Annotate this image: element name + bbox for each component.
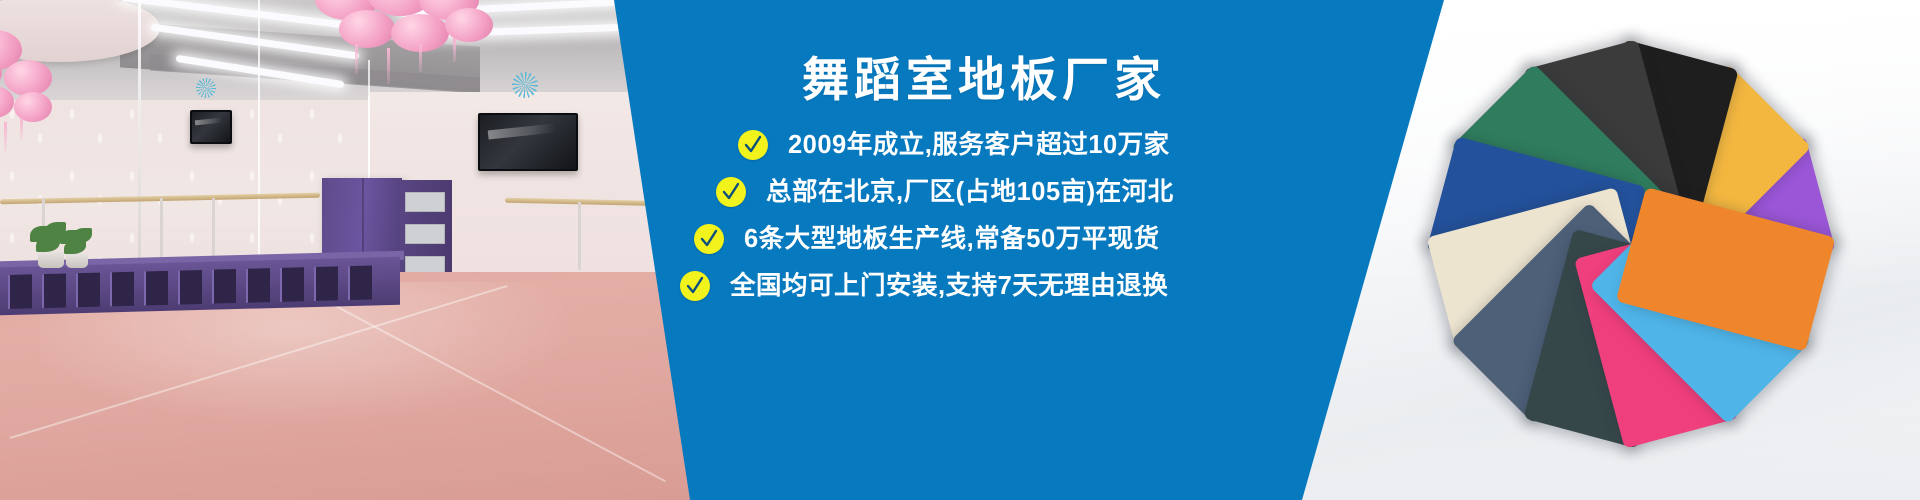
check-circle-icon: [716, 177, 746, 207]
check-circle-icon: [738, 130, 768, 160]
promo-banner: 舞蹈室地板厂家 2009年成立,服务客户超过10万家总部在北京,厂区(占地105…: [0, 0, 1920, 500]
dance-studio-photo: [0, 0, 720, 500]
page-title: 舞蹈室地板厂家: [668, 54, 1300, 106]
list-item: 全国均可上门安装,支持7天无理由退换: [660, 271, 1300, 301]
banner-content: 舞蹈室地板厂家 2009年成立,服务客户超过10万家总部在北京,厂区(占地105…: [660, 54, 1300, 318]
check-circle-icon: [694, 224, 724, 254]
floor-color-swatch-fan: [1425, 44, 1837, 444]
list-item: 总部在北京,厂区(占地105亩)在河北: [660, 177, 1300, 207]
list-item-label: 2009年成立,服务客户超过10万家: [788, 131, 1170, 159]
wall-snowflake-decor-icon: [196, 78, 216, 98]
wall-tv-reflection: [190, 110, 232, 144]
wall-snowflake-decor-icon: [512, 72, 538, 98]
list-item-label: 全国均可上门安装,支持7天无理由退换: [730, 272, 1168, 300]
mirror-edge: [138, 0, 141, 290]
list-item-label: 6条大型地板生产线,常备50万平现货: [744, 225, 1160, 253]
list-item-label: 总部在北京,厂区(占地105亩)在河北: [766, 178, 1174, 206]
list-item: 6条大型地板生产线,常备50万平现货: [660, 224, 1300, 254]
chandelier-right: [295, 0, 505, 98]
potted-plant: [58, 228, 98, 262]
chandelier-left: [0, 30, 108, 160]
check-circle-icon: [680, 271, 710, 301]
wall-tv: [478, 113, 578, 171]
barre-post: [578, 202, 581, 270]
list-item: 2009年成立,服务客户超过10万家: [660, 130, 1300, 160]
feature-list: 2009年成立,服务客户超过10万家总部在北京,厂区(占地105亩)在河北6条大…: [660, 130, 1300, 301]
